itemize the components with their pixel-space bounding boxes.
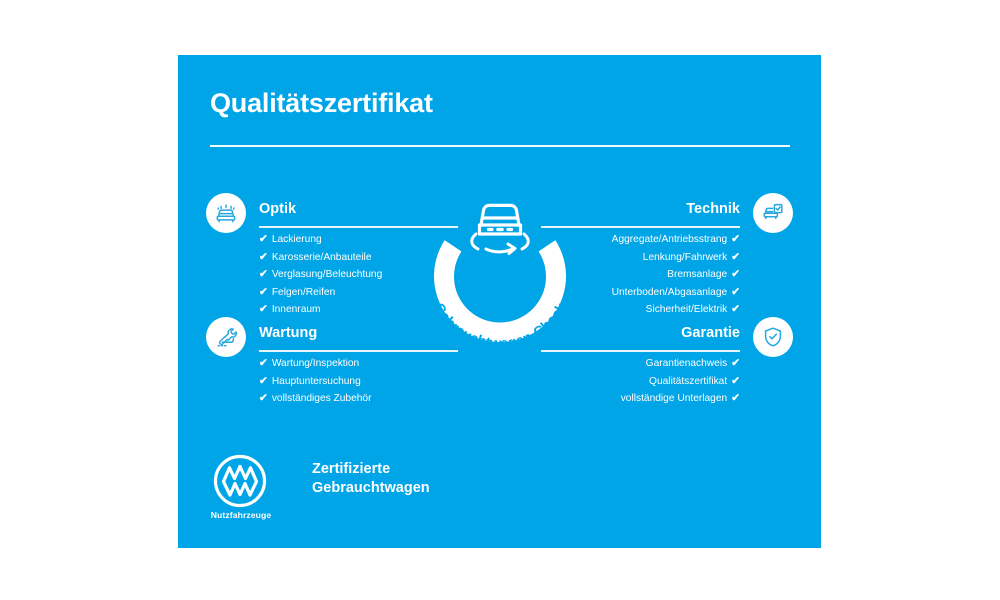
- check-icon: ✔: [731, 303, 740, 315]
- list-item-label: Wartung/Inspektion: [272, 358, 359, 369]
- badge-360-check: 360° Gebrauchtwagen-Check: [402, 173, 598, 369]
- footer: Nutzfahrzeuge Zertifizierte Gebrauchtwag…: [206, 453, 626, 533]
- volkswagen-logo: [212, 453, 268, 509]
- check-icon: ✔: [259, 303, 268, 315]
- list-item-label: vollständige Unterlagen: [621, 393, 727, 404]
- check-icon: ✔: [259, 233, 268, 245]
- check-icon: ✔: [731, 357, 740, 369]
- section-technik-title: Technik: [686, 201, 740, 217]
- check-icon: ✔: [731, 392, 740, 404]
- footer-line-1: Zertifizierte: [312, 460, 430, 479]
- shield-check-icon: [753, 317, 793, 357]
- footer-text: Zertifizierte Gebrauchtwagen: [312, 460, 430, 498]
- certificate-panel: Qualitätszertifikat: [178, 55, 821, 548]
- check-icon: ✔: [731, 375, 740, 387]
- list-item-label: Lackierung: [272, 234, 322, 245]
- check-icon: ✔: [731, 286, 740, 298]
- title-divider: [210, 145, 790, 147]
- list-item-label: Hauptuntersuchung: [272, 376, 361, 387]
- list-item-label: vollständiges Zubehör: [272, 393, 372, 404]
- check-icon: ✔: [259, 375, 268, 387]
- section-garantie-title: Garantie: [681, 325, 740, 341]
- car-checklist-icon: [753, 193, 793, 233]
- list-item-label: Felgen/Reifen: [272, 287, 335, 298]
- check-icon: ✔: [731, 233, 740, 245]
- footer-line-2: Gebrauchtwagen: [312, 479, 430, 498]
- logo-subtitle: Nutzfahrzeuge: [206, 510, 276, 520]
- list-item: ✔Hauptuntersuchung: [259, 373, 458, 391]
- list-item-label: Unterboden/Abgasanlage: [612, 287, 728, 298]
- check-icon: ✔: [259, 357, 268, 369]
- page-title: Qualitätszertifikat: [210, 88, 433, 119]
- section-optik-title: Optik: [259, 201, 296, 217]
- car-wash-icon: [206, 193, 246, 233]
- check-icon: ✔: [259, 392, 268, 404]
- list-item: Qualitätszertifikat✔: [541, 373, 740, 391]
- list-item-label: Aggregate/Antriebsstrang: [612, 234, 728, 245]
- list-item-label: Karosserie/Anbauteile: [272, 252, 372, 263]
- check-icon: ✔: [259, 251, 268, 263]
- list-item-label: Qualitätszertifikat: [649, 376, 727, 387]
- list-item-label: Verglasung/Beleuchtung: [272, 269, 382, 280]
- list-item: ✔vollständiges Zubehör: [259, 390, 458, 408]
- list-item: vollständige Unterlagen✔: [541, 390, 740, 408]
- wrench-car-service-icon: [206, 317, 246, 357]
- check-icon: ✔: [731, 251, 740, 263]
- section-wartung-title: Wartung: [259, 325, 317, 341]
- list-item-label: Garantienachweis: [646, 358, 728, 369]
- list-item-label: Lenkung/Fahrwerk: [643, 252, 727, 263]
- list-item-label: Bremsanlage: [667, 269, 727, 280]
- check-icon: ✔: [731, 268, 740, 280]
- badge-degrees: 360°: [462, 258, 539, 299]
- check-icon: ✔: [259, 286, 268, 298]
- list-item-label: Innenraum: [272, 304, 321, 315]
- check-icon: ✔: [259, 268, 268, 280]
- certificate-canvas: Qualitätszertifikat: [0, 0, 1000, 600]
- list-item-label: Sicherheit/Elektrik: [646, 304, 728, 315]
